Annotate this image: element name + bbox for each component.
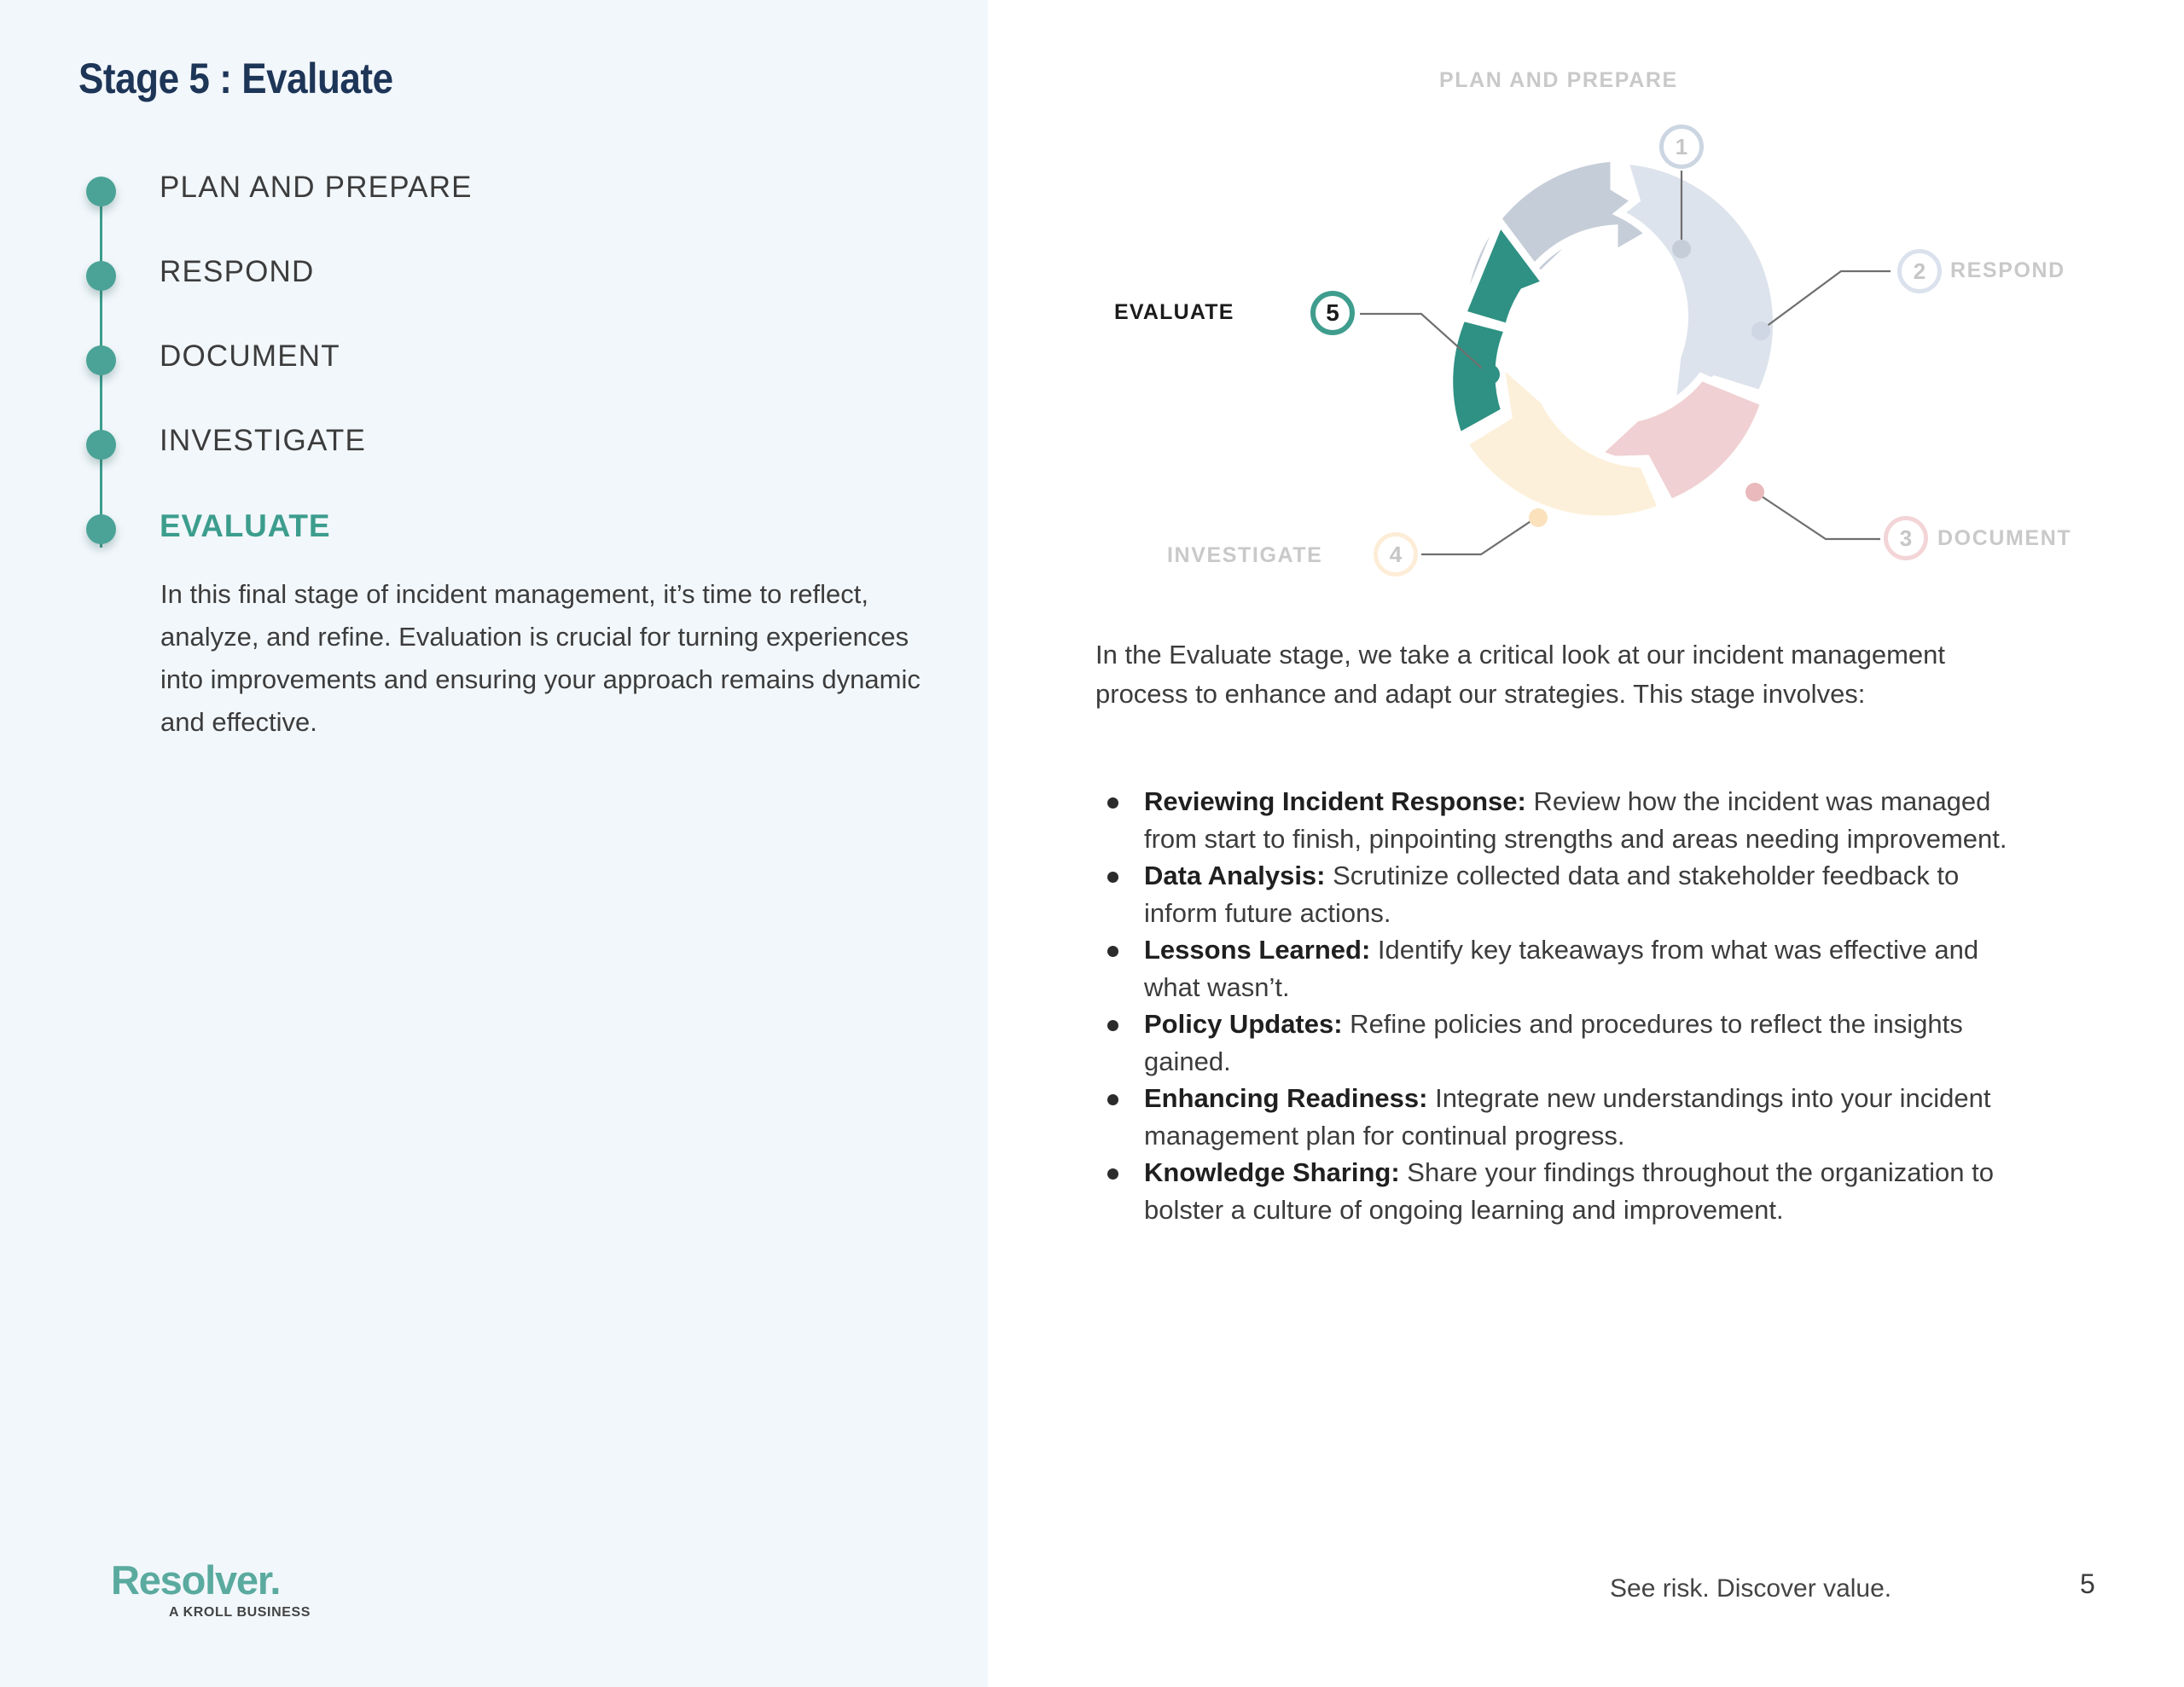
- timeline-dot-icon: [86, 177, 116, 206]
- slide-page: Stage 5 : Evaluate PLAN AND PREPARE RESP…: [0, 0, 2184, 1687]
- timeline-item-label: DOCUMENT: [160, 339, 340, 374]
- list-item: Data Analysis: Scrutinize collected data…: [1095, 857, 2034, 931]
- page-number: 5: [2080, 1568, 2095, 1600]
- list-item: Policy Updates: Refine policies and proc…: [1095, 1006, 2034, 1080]
- diagram-node-number-4[interactable]: 4: [1374, 532, 1418, 577]
- connector-dot-4: [1529, 508, 1548, 527]
- list-item-term: Enhancing Readiness:: [1144, 1083, 1427, 1113]
- timeline-dot-icon: [86, 514, 116, 544]
- diagram-label-evaluate: EVALUATE: [1114, 300, 1234, 325]
- cycle-diagram-svg: [988, 17, 2184, 580]
- connector-3: [1754, 491, 1880, 539]
- timeline-dot-icon: [86, 261, 116, 291]
- diagram-node-number-2[interactable]: 2: [1897, 249, 1942, 293]
- timeline-item-investigate[interactable]: INVESTIGATE: [78, 415, 915, 500]
- logo-tagline: A KROLL BUSINESS: [169, 1605, 311, 1620]
- logo-wordmark: Resolver.: [111, 1559, 311, 1602]
- main-content-column: PLAN AND PREPARE RESPOND DOCUMENT INVEST…: [988, 0, 2184, 1687]
- diagram-node-number-1[interactable]: 1: [1659, 125, 1704, 169]
- timeline-item-plan-and-prepare[interactable]: PLAN AND PREPARE: [78, 162, 915, 246]
- list-item: Knowledge Sharing: Share your findings t…: [1095, 1154, 2034, 1228]
- page-title: Stage 5 : Evaluate: [78, 54, 393, 103]
- list-item-term: Lessons Learned:: [1144, 935, 1370, 965]
- footer-tagline: See risk. Discover value.: [1610, 1574, 1891, 1603]
- diagram-label-plan-and-prepare: PLAN AND PREPARE: [1439, 68, 1678, 93]
- list-item: Enhancing Readiness: Integrate new under…: [1095, 1080, 2034, 1154]
- left-sidebar-panel: Stage 5 : Evaluate PLAN AND PREPARE RESP…: [0, 0, 988, 1687]
- list-item: Reviewing Incident Response: Review how …: [1095, 783, 2034, 857]
- evaluate-bullet-list: Reviewing Incident Response: Review how …: [1095, 783, 2034, 1228]
- timeline-item-label: PLAN AND PREPARE: [160, 171, 473, 205]
- connector-4: [1421, 517, 1537, 554]
- diagram-label-document: DOCUMENT: [1937, 526, 2071, 551]
- stage-description-paragraph: In this final stage of incident manageme…: [160, 573, 928, 744]
- connector-dot-3: [1745, 483, 1764, 501]
- timeline-dot-icon: [86, 430, 116, 460]
- list-item-term: Knowledge Sharing:: [1144, 1157, 1400, 1187]
- timeline-item-label: INVESTIGATE: [160, 424, 366, 458]
- cycle-arrows: [1449, 158, 1777, 519]
- diagram-node-number-5[interactable]: 5: [1310, 291, 1355, 335]
- list-item-term: Reviewing Incident Response:: [1144, 786, 1526, 816]
- diagram-label-respond: RESPOND: [1950, 258, 2065, 283]
- connector-dot-2: [1751, 322, 1770, 340]
- timeline-item-evaluate[interactable]: EVALUATE: [78, 500, 915, 584]
- connector-dot-5: [1479, 364, 1500, 385]
- connector-2: [1763, 271, 1891, 329]
- evaluate-intro-paragraph: In the Evaluate stage, we take a critica…: [1095, 635, 2000, 714]
- timeline-item-label: RESPOND: [160, 255, 315, 289]
- list-item: Lessons Learned: Identify key takeaways …: [1095, 931, 2034, 1006]
- timeline-dot-icon: [86, 345, 116, 375]
- cycle-diagram: PLAN AND PREPARE RESPOND DOCUMENT INVEST…: [988, 17, 2184, 580]
- timeline-item-document[interactable]: DOCUMENT: [78, 331, 915, 415]
- list-item-term: Policy Updates:: [1144, 1009, 1343, 1039]
- timeline-item-label: EVALUATE: [160, 508, 330, 544]
- connector-dot-1: [1672, 240, 1691, 258]
- diagram-node-number-3[interactable]: 3: [1884, 516, 1928, 560]
- diagram-label-investigate: INVESTIGATE: [1167, 543, 1322, 568]
- timeline-item-respond[interactable]: RESPOND: [78, 246, 915, 331]
- resolver-logo: Resolver. A KROLL BUSINESS: [111, 1559, 311, 1620]
- list-item-term: Data Analysis:: [1144, 861, 1326, 890]
- stage-timeline: PLAN AND PREPARE RESPOND DOCUMENT INVEST…: [78, 162, 915, 584]
